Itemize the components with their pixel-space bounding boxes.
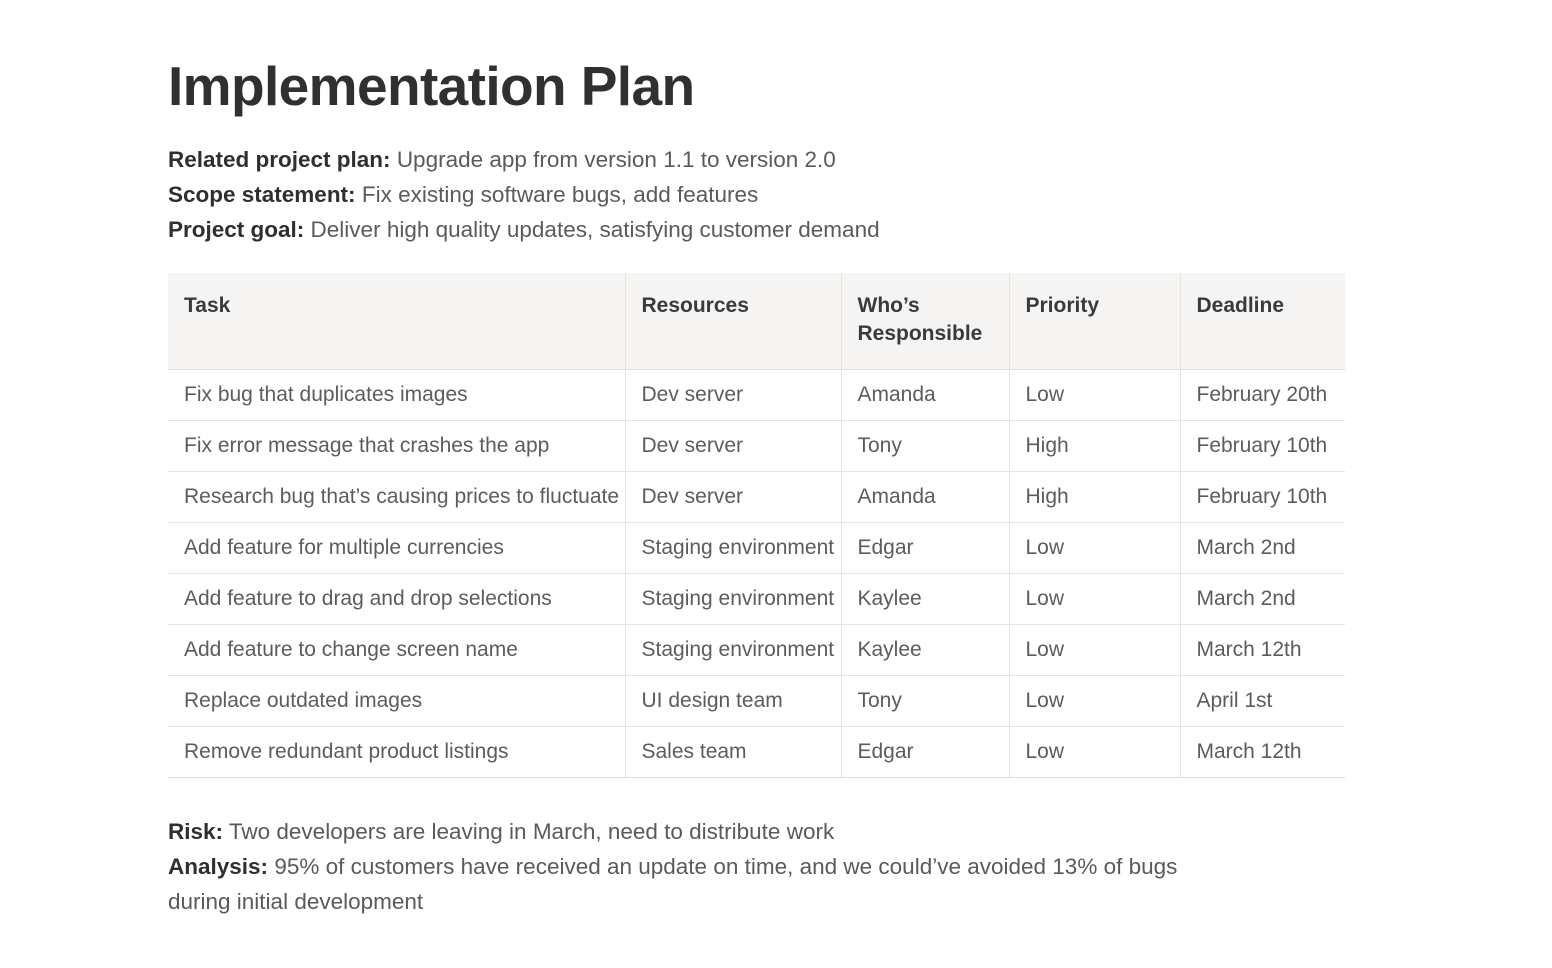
cell-priority: Low bbox=[1009, 370, 1180, 421]
cell-deadline: April 1st bbox=[1180, 676, 1345, 727]
cell-task: Replace outdated images bbox=[168, 676, 625, 727]
cell-responsible: Edgar bbox=[841, 523, 1009, 574]
cell-task: Add feature to drag and drop selections bbox=[168, 574, 625, 625]
cell-resources: Staging environment bbox=[625, 625, 841, 676]
meta-value-project-goal: Deliver high quality updates, satisfying… bbox=[311, 217, 880, 242]
table-body: Fix bug that duplicates images Dev serve… bbox=[168, 370, 1345, 778]
document-content: Implementation Plan Related project plan… bbox=[168, 0, 1348, 919]
note-label-risk: Risk: bbox=[168, 819, 223, 844]
column-header-task: Task bbox=[168, 273, 625, 370]
table-row: Add feature to change screen name Stagin… bbox=[168, 625, 1345, 676]
implementation-plan-table: Task Resources Who’s Responsible Priorit… bbox=[168, 273, 1345, 778]
meta-label-related-project-plan: Related project plan: bbox=[168, 147, 391, 172]
cell-resources: UI design team bbox=[625, 676, 841, 727]
note-line-risk: Risk: Two developers are leaving in Marc… bbox=[168, 814, 1228, 849]
cell-resources: Sales team bbox=[625, 727, 841, 778]
table-row: Add feature for multiple currencies Stag… bbox=[168, 523, 1345, 574]
meta-line-scope-statement: Scope statement: Fix existing software b… bbox=[168, 177, 1348, 212]
cell-task: Add feature for multiple currencies bbox=[168, 523, 625, 574]
cell-priority: Low bbox=[1009, 727, 1180, 778]
cell-responsible: Tony bbox=[841, 421, 1009, 472]
cell-deadline: February 10th bbox=[1180, 472, 1345, 523]
table-row: Fix bug that duplicates images Dev serve… bbox=[168, 370, 1345, 421]
note-line-analysis: Analysis: 95% of customers have received… bbox=[168, 849, 1228, 919]
cell-responsible: Amanda bbox=[841, 472, 1009, 523]
column-header-resources: Resources bbox=[625, 273, 841, 370]
note-value-risk: Two developers are leaving in March, nee… bbox=[229, 819, 834, 844]
column-header-deadline: Deadline bbox=[1180, 273, 1345, 370]
cell-task: Research bug that’s causing prices to fl… bbox=[168, 472, 625, 523]
cell-priority: Low bbox=[1009, 574, 1180, 625]
cell-responsible: Tony bbox=[841, 676, 1009, 727]
project-meta-block: Related project plan: Upgrade app from v… bbox=[168, 142, 1348, 247]
notes-block: Risk: Two developers are leaving in Marc… bbox=[168, 814, 1228, 919]
cell-responsible: Amanda bbox=[841, 370, 1009, 421]
cell-task: Fix error message that crashes the app bbox=[168, 421, 625, 472]
cell-responsible: Edgar bbox=[841, 727, 1009, 778]
cell-deadline: March 2nd bbox=[1180, 523, 1345, 574]
cell-resources: Staging environment bbox=[625, 574, 841, 625]
cell-priority: Low bbox=[1009, 625, 1180, 676]
cell-priority: Low bbox=[1009, 523, 1180, 574]
cell-deadline: March 12th bbox=[1180, 625, 1345, 676]
cell-deadline: March 2nd bbox=[1180, 574, 1345, 625]
cell-resources: Dev server bbox=[625, 370, 841, 421]
cell-deadline: February 20th bbox=[1180, 370, 1345, 421]
document-page: Implementation Plan Related project plan… bbox=[0, 0, 1552, 968]
column-header-responsible: Who’s Responsible bbox=[841, 273, 1009, 370]
cell-task: Remove redundant product listings bbox=[168, 727, 625, 778]
cell-task: Add feature to change screen name bbox=[168, 625, 625, 676]
note-label-analysis: Analysis: bbox=[168, 854, 268, 879]
cell-responsible: Kaylee bbox=[841, 574, 1009, 625]
meta-line-related-project-plan: Related project plan: Upgrade app from v… bbox=[168, 142, 1348, 177]
note-value-analysis: 95% of customers have received an update… bbox=[168, 854, 1177, 914]
cell-resources: Dev server bbox=[625, 421, 841, 472]
cell-priority: High bbox=[1009, 421, 1180, 472]
meta-label-project-goal: Project goal: bbox=[168, 217, 304, 242]
table-row: Replace outdated images UI design team T… bbox=[168, 676, 1345, 727]
cell-priority: High bbox=[1009, 472, 1180, 523]
column-header-priority: Priority bbox=[1009, 273, 1180, 370]
cell-task: Fix bug that duplicates images bbox=[168, 370, 625, 421]
table-row: Research bug that’s causing prices to fl… bbox=[168, 472, 1345, 523]
cell-resources: Dev server bbox=[625, 472, 841, 523]
meta-line-project-goal: Project goal: Deliver high quality updat… bbox=[168, 212, 1348, 247]
table-header-row: Task Resources Who’s Responsible Priorit… bbox=[168, 273, 1345, 370]
cell-priority: Low bbox=[1009, 676, 1180, 727]
cell-responsible: Kaylee bbox=[841, 625, 1009, 676]
page-title: Implementation Plan bbox=[168, 0, 1348, 116]
table-row: Remove redundant product listings Sales … bbox=[168, 727, 1345, 778]
table-row: Fix error message that crashes the app D… bbox=[168, 421, 1345, 472]
meta-value-scope-statement: Fix existing software bugs, add features bbox=[362, 182, 758, 207]
cell-resources: Staging environment bbox=[625, 523, 841, 574]
table-row: Add feature to drag and drop selections … bbox=[168, 574, 1345, 625]
table-header: Task Resources Who’s Responsible Priorit… bbox=[168, 273, 1345, 370]
meta-label-scope-statement: Scope statement: bbox=[168, 182, 356, 207]
cell-deadline: February 10th bbox=[1180, 421, 1345, 472]
meta-value-related-project-plan: Upgrade app from version 1.1 to version … bbox=[397, 147, 836, 172]
cell-deadline: March 12th bbox=[1180, 727, 1345, 778]
